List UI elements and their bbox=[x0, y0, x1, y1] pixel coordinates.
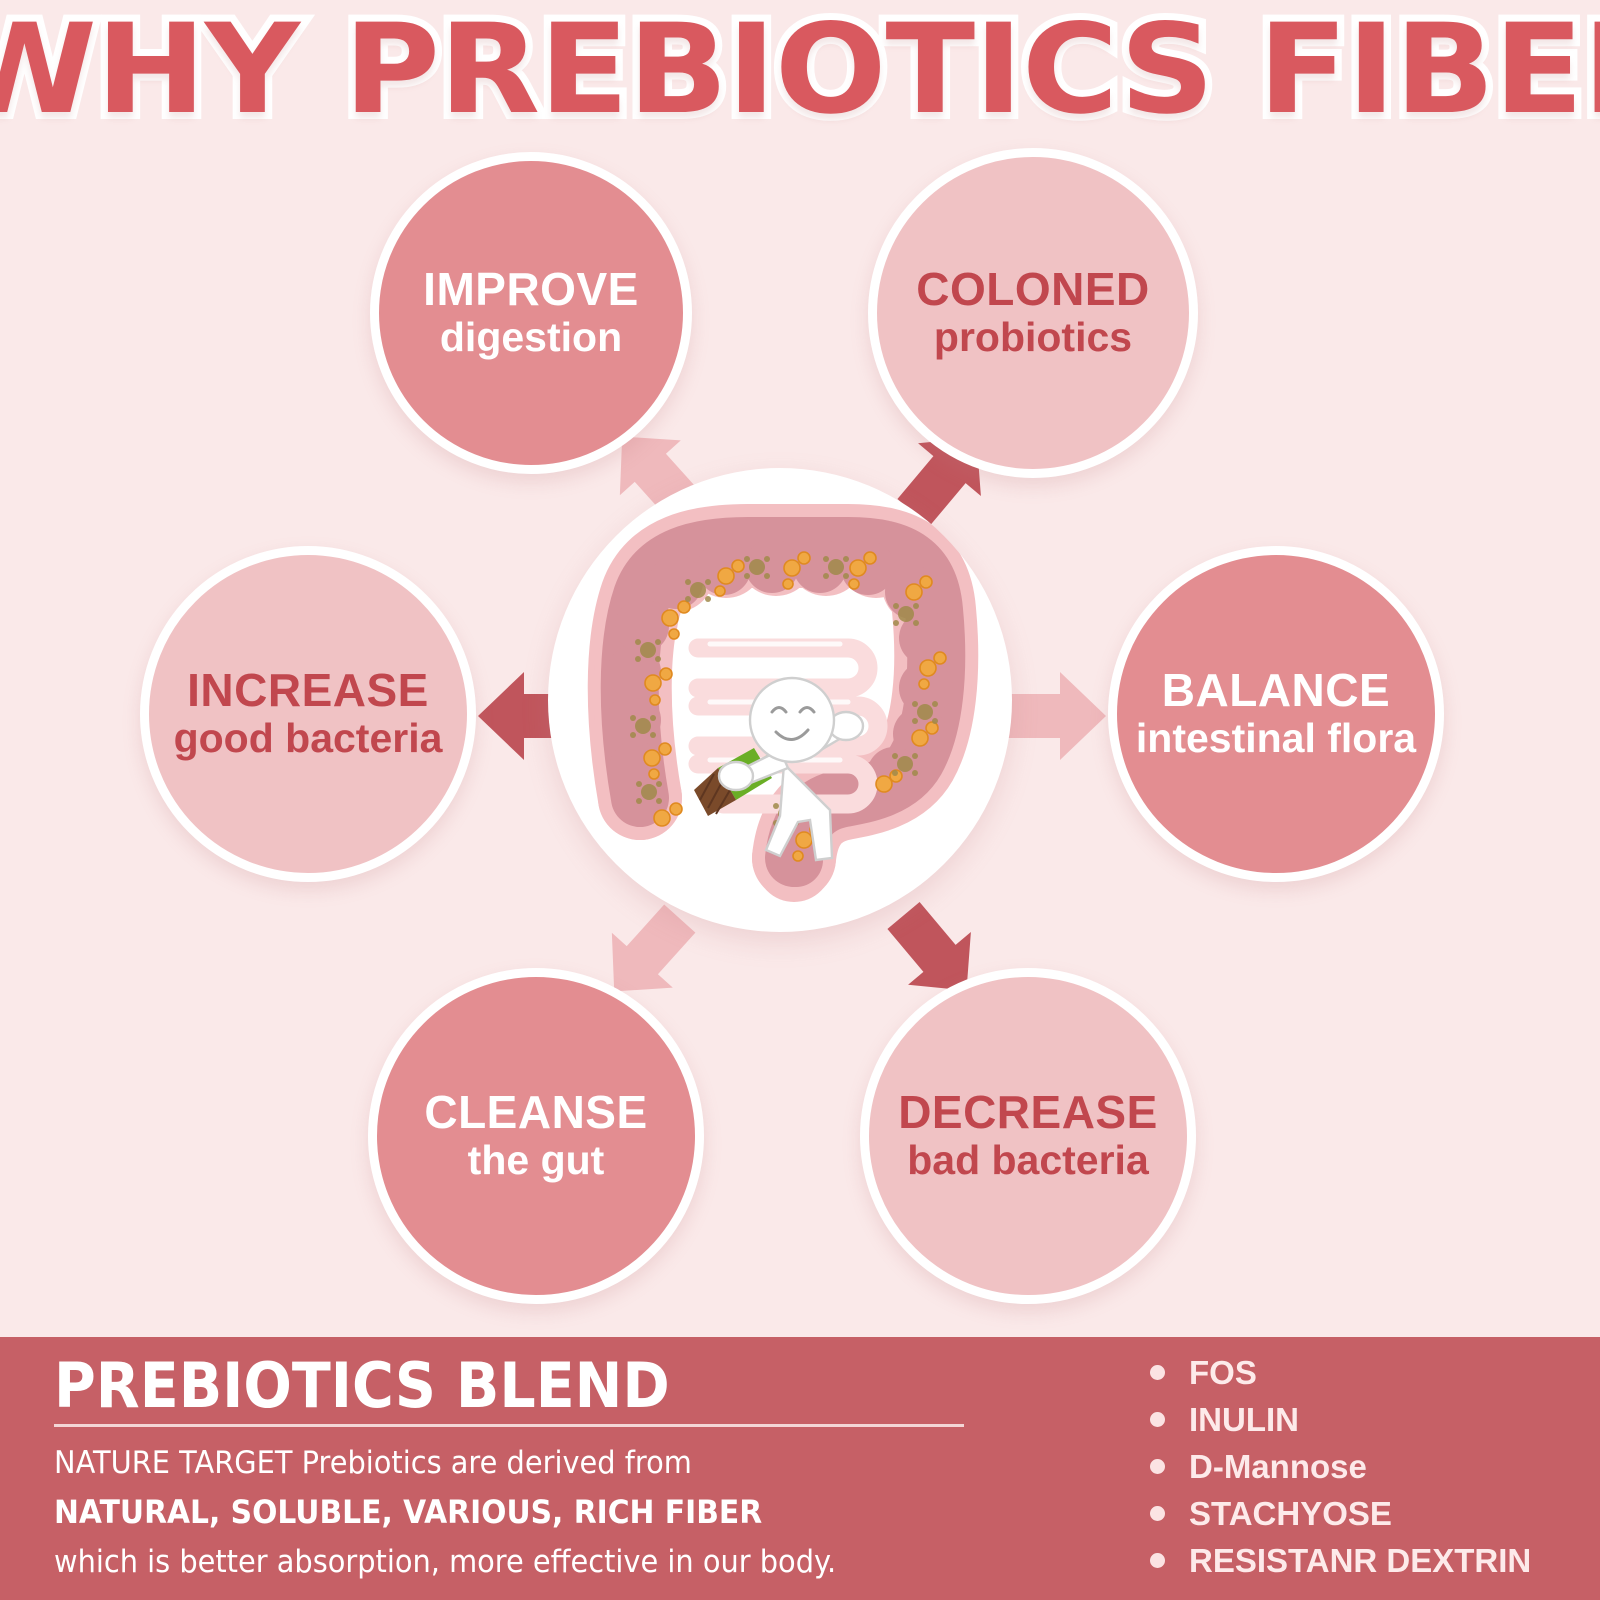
ingredient-label: RESISTANR DEXTRIN bbox=[1189, 1542, 1531, 1580]
infographic-canvas: WHY PREBIOTICS FIBER? bbox=[0, 0, 1600, 1600]
prebiotics-blend-banner: PREBIOTICS BLEND NATURE TARGET Prebiotic… bbox=[0, 1337, 1600, 1600]
bubble-increase-subtitle: good bacteria bbox=[174, 716, 443, 762]
list-item: RESISTANR DEXTRIN bbox=[1150, 1537, 1600, 1584]
bubble-balance-subtitle: intestinal flora bbox=[1136, 716, 1416, 762]
bullet-icon bbox=[1150, 1365, 1165, 1380]
bubble-improve-subtitle: digestion bbox=[440, 315, 622, 361]
ingredient-label: D-Mannose bbox=[1189, 1448, 1367, 1486]
bubble-balance-title: BALANCE bbox=[1162, 666, 1390, 715]
list-item: D-Mannose bbox=[1150, 1443, 1600, 1490]
bullet-icon bbox=[1150, 1412, 1165, 1427]
bubble-increase-title: INCREASE bbox=[187, 666, 429, 715]
bubble-increase-good-bacteria[interactable]: INCREASE good bacteria bbox=[140, 546, 476, 882]
bubble-improve-digestion[interactable]: IMPROVE digestion bbox=[370, 152, 692, 474]
bubble-coloned-title: COLONED bbox=[916, 265, 1150, 314]
center-illustration-disc bbox=[548, 468, 1012, 932]
bubble-decrease-subtitle: bad bacteria bbox=[907, 1138, 1149, 1184]
blend-heading: PREBIOTICS BLEND bbox=[54, 1355, 983, 1417]
blend-divider bbox=[54, 1424, 964, 1427]
blend-line-1: NATURE TARGET Prebiotics are derived fro… bbox=[54, 1441, 993, 1485]
page-title: WHY PREBIOTICS FIBER? bbox=[0, 8, 1600, 132]
blend-line-2: NATURAL, SOLUBLE, VARIOUS, RICH FIBER bbox=[54, 1490, 993, 1535]
bubble-cleanse-title: CLEANSE bbox=[424, 1088, 647, 1137]
blend-line-3: which is better absorption, more effecti… bbox=[54, 1540, 993, 1584]
banner-left-column: PREBIOTICS BLEND NATURE TARGET Prebiotic… bbox=[54, 1355, 1064, 1584]
bubble-cleanse-subtitle: the gut bbox=[468, 1138, 605, 1184]
blend-description: NATURE TARGET Prebiotics are derived fro… bbox=[54, 1441, 1064, 1584]
bubble-balance-intestinal-flora[interactable]: BALANCE intestinal flora bbox=[1108, 546, 1444, 882]
ingredient-label: FOS bbox=[1189, 1354, 1257, 1392]
bubble-decrease-bad-bacteria[interactable]: DECREASE bad bacteria bbox=[860, 968, 1196, 1304]
list-item: STACHYOSE bbox=[1150, 1490, 1600, 1537]
ingredients-list: FOS INULIN D-Mannose STACHYOSE RESISTANR… bbox=[1150, 1349, 1600, 1584]
bubble-improve-title: IMPROVE bbox=[423, 265, 639, 314]
bubble-coloned-subtitle: probiotics bbox=[934, 315, 1132, 361]
list-item: INULIN bbox=[1150, 1396, 1600, 1443]
colon-illustration bbox=[548, 468, 1012, 932]
arrow-right-icon bbox=[1002, 660, 1114, 772]
bubble-decrease-title: DECREASE bbox=[898, 1088, 1158, 1137]
ingredient-label: STACHYOSE bbox=[1189, 1495, 1392, 1533]
ingredient-label: INULIN bbox=[1189, 1401, 1299, 1439]
list-item: FOS bbox=[1150, 1349, 1600, 1396]
bubble-cleanse-the-gut[interactable]: CLEANSE the gut bbox=[368, 968, 704, 1304]
bubble-coloned-probiotics[interactable]: COLONED probiotics bbox=[868, 148, 1198, 478]
bullet-icon bbox=[1150, 1506, 1165, 1521]
bullet-icon bbox=[1150, 1553, 1165, 1568]
bullet-icon bbox=[1150, 1459, 1165, 1474]
